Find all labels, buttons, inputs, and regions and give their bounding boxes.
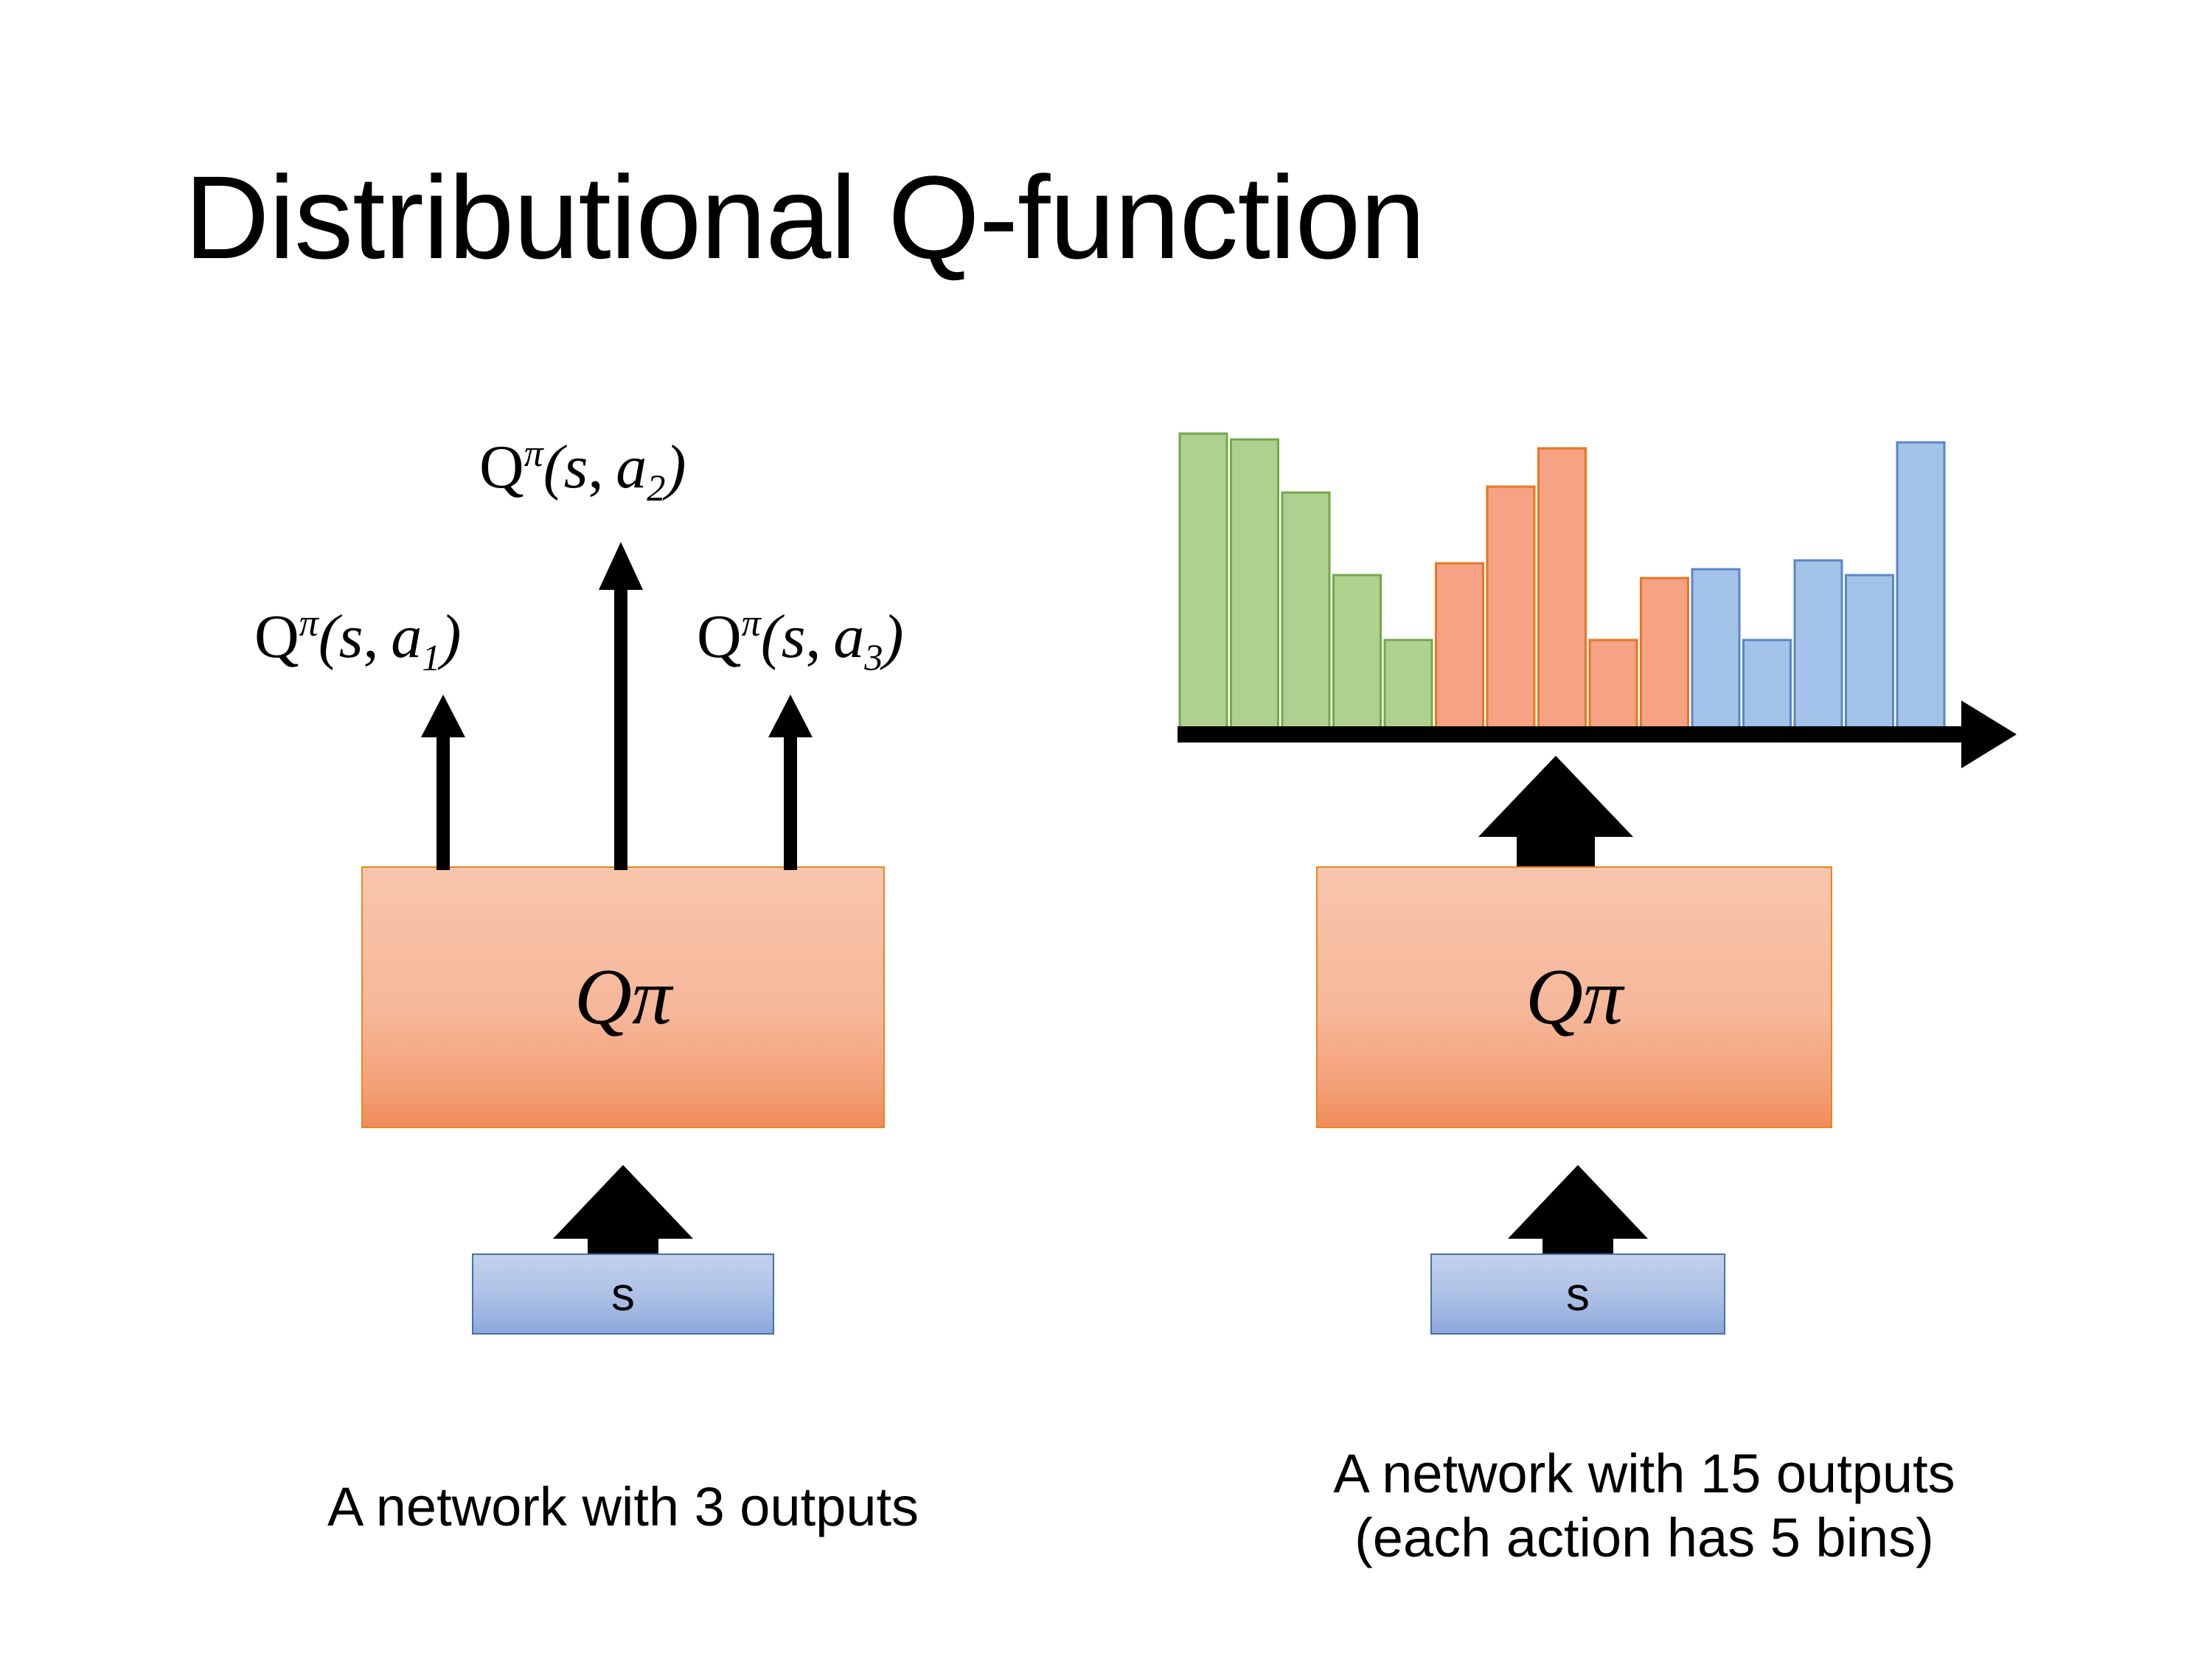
histogram-axis (1178, 700, 2017, 768)
left-output-arrows (421, 542, 813, 870)
right-caption-line2: (each action has 5 bins) (1165, 1506, 2124, 1570)
right-caption: A network with 15 outputs (each action h… (1165, 1441, 2124, 1571)
histogram-bar (1180, 434, 1227, 728)
histogram-bar (1846, 575, 1893, 728)
output-label-q-s-a2: Qπ(s, a2) (479, 435, 686, 507)
left-q-superscript: π (632, 953, 672, 1041)
histogram-bar (1282, 493, 1329, 728)
histogram-bar (1539, 448, 1586, 728)
left-state-box[interactable]: s (472, 1253, 774, 1335)
right-input-block-arrow (1508, 1165, 1648, 1253)
histogram-bar (1385, 640, 1432, 728)
histogram-bar (1641, 578, 1688, 728)
right-q-base: Q (1526, 953, 1583, 1041)
right-q-superscript: π (1583, 953, 1623, 1041)
histogram-bar (1897, 442, 1944, 728)
left-caption: A network with 3 outputs (181, 1475, 1065, 1539)
left-q-network-box[interactable]: Qπ (361, 866, 885, 1128)
left-q-network-label: Qπ (363, 958, 883, 1037)
histogram-bar (1795, 560, 1842, 728)
left-caption-line1: A network with 3 outputs (181, 1475, 1065, 1539)
histogram-bar (1692, 569, 1739, 728)
right-caption-line1: A network with 15 outputs (1165, 1441, 2124, 1506)
distribution-histogram (1180, 434, 1944, 728)
right-q-network-label: Qπ (1318, 958, 1831, 1037)
output-arrow-a1 (421, 695, 465, 870)
right-q-network-box[interactable]: Qπ (1316, 866, 1832, 1128)
left-state-label: s (473, 1270, 773, 1318)
page-title: Distributional Q-function (184, 159, 2028, 276)
histogram-bar (1334, 575, 1381, 728)
output-arrow-a3 (768, 695, 813, 870)
output-label-q-s-a1: Qπ(s, a1) (254, 605, 461, 676)
left-q-base: Q (574, 953, 632, 1041)
right-state-label: s (1432, 1270, 1724, 1318)
histogram-bar (1744, 640, 1791, 728)
histogram-bar (1590, 640, 1637, 728)
histogram-bar (1436, 563, 1484, 728)
right-state-box[interactable]: s (1430, 1253, 1725, 1335)
histogram-bar (1487, 487, 1534, 728)
histogram-bar (1231, 439, 1279, 728)
right-output-block-arrow (1478, 756, 1633, 866)
slide-canvas: Distributional Q-function Qπ(s, a1) Qπ(s… (0, 0, 2212, 1659)
left-input-block-arrow (553, 1165, 693, 1253)
output-arrow-a2 (599, 542, 643, 870)
output-label-q-s-a3: Qπ(s, a3) (697, 605, 903, 676)
